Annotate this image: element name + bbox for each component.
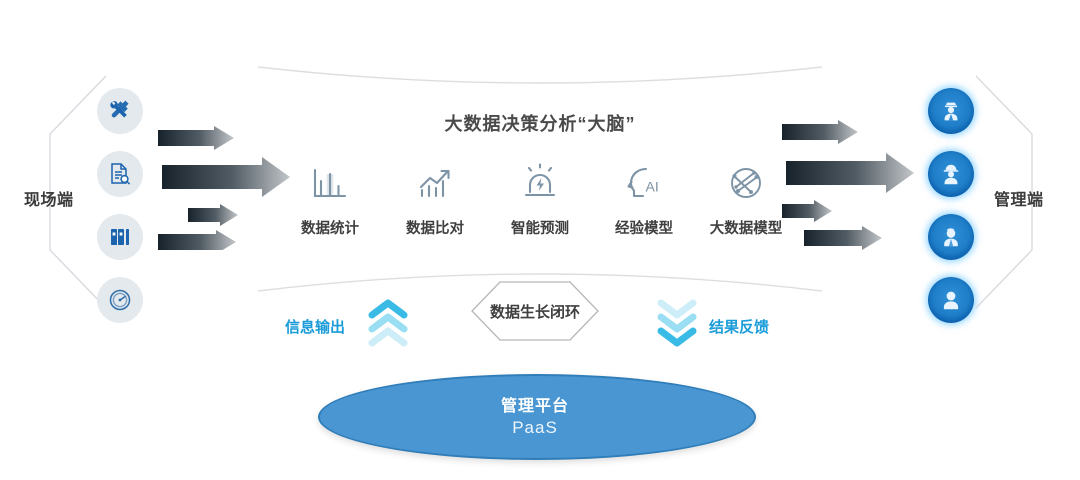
source-icon-archive[interactable] — [97, 214, 143, 260]
platform-title: 管理平台 — [501, 392, 569, 416]
feature-icon-wrap — [488, 158, 592, 210]
network-globe-icon — [724, 162, 768, 206]
role-icon-officer[interactable] — [928, 88, 974, 134]
left-group-label: 现场端 — [24, 186, 74, 210]
source-icon-document-search[interactable] — [97, 151, 143, 197]
generic-user-icon — [939, 288, 963, 312]
data-loop-label: 数据生长闭环 — [470, 280, 600, 342]
source-icon-gauge[interactable] — [97, 277, 143, 323]
right-arrow-2 — [786, 153, 914, 193]
feature-icon-wrap — [278, 158, 382, 210]
bar-chart-icon — [308, 162, 352, 206]
role-icon-worker[interactable] — [928, 151, 974, 197]
feedback-chevrons-icon — [655, 299, 699, 351]
feature-data-statistics[interactable]: 数据统计 — [278, 158, 382, 238]
right-arrow-1 — [782, 120, 858, 144]
left-arrow-2 — [162, 157, 290, 197]
officer-user-icon — [939, 99, 963, 123]
feature-label: 经验模型 — [592, 217, 696, 238]
left-arrow-4 — [158, 230, 236, 250]
role-icon-staff[interactable] — [928, 214, 974, 260]
right-arrow-3 — [782, 200, 832, 222]
diagram-canvas: 现场端 — [0, 0, 1080, 480]
feature-data-comparison[interactable]: 数据比对 — [383, 158, 487, 238]
alarm-bolt-icon — [518, 162, 562, 206]
document-search-icon — [107, 161, 133, 187]
worker-user-icon — [939, 162, 963, 186]
archive-binders-icon — [107, 224, 133, 250]
top-arc — [250, 55, 830, 95]
output-flow-label: 信息输出 — [285, 316, 345, 337]
feature-label: 数据比对 — [383, 217, 487, 238]
right-arrow-4 — [804, 226, 882, 250]
staff-user-icon — [939, 225, 963, 249]
role-icon-generic-user[interactable] — [928, 277, 974, 323]
feature-smart-prediction[interactable]: 智能预测 — [488, 158, 592, 238]
left-arrow-3 — [188, 204, 238, 226]
trend-up-icon — [413, 162, 457, 206]
ai-text: AI — [646, 179, 659, 195]
feature-icon-wrap — [383, 158, 487, 210]
right-arrow-group — [782, 118, 922, 250]
feature-label: 智能预测 — [488, 217, 592, 238]
feedback-flow-label: 结果反馈 — [709, 316, 769, 337]
output-chevrons-icon — [366, 299, 410, 351]
left-arrow-group — [158, 126, 298, 250]
ai-head-icon: AI — [622, 162, 666, 206]
right-group-label: 管理端 — [994, 186, 1044, 210]
feature-experience-model[interactable]: AI 经验模型 — [592, 158, 696, 238]
gauge-meter-icon — [107, 287, 133, 313]
feature-icon-wrap: AI — [592, 158, 696, 210]
platform-subtitle: PaaS — [512, 418, 558, 438]
platform-text-wrap: 管理平台 PaaS — [318, 374, 752, 456]
feature-label: 数据统计 — [278, 217, 382, 238]
